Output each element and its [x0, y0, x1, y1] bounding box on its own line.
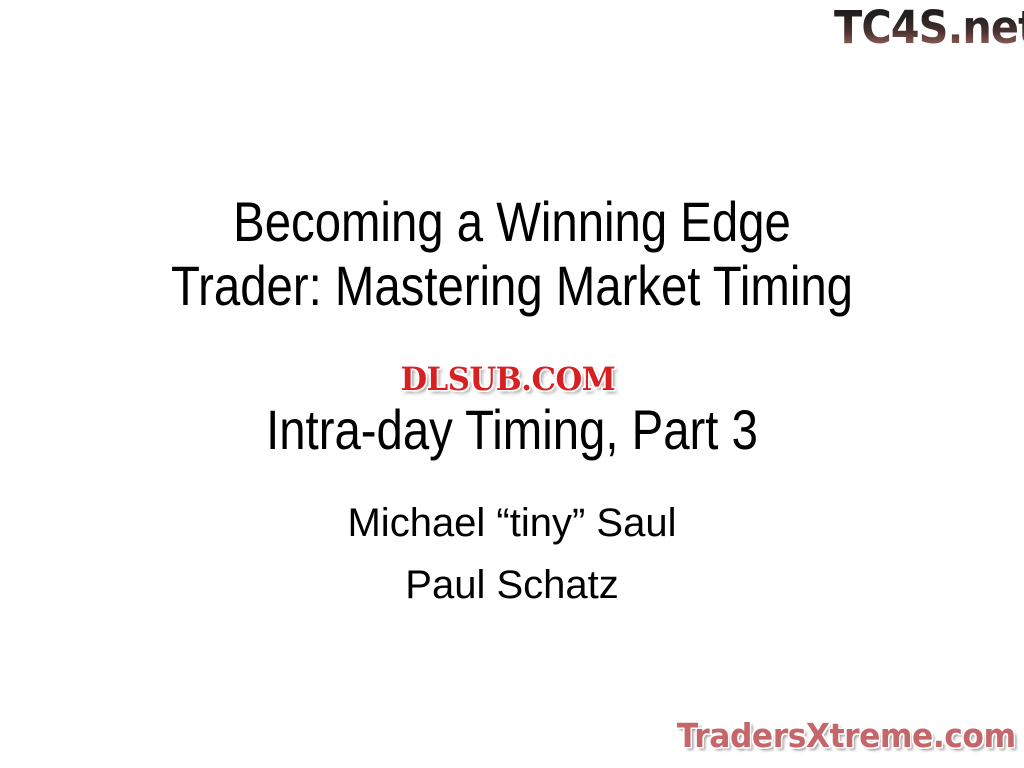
presentation-slide: TC4S.net Becoming a Winning Edge Trader:…	[0, 0, 1024, 768]
tradersxtreme-watermark-text: TradersXtreme.com	[677, 714, 1016, 758]
slide-title-line-1: Becoming a Winning Edge	[79, 192, 944, 252]
author-name-primary: Michael “tiny” Saul	[0, 500, 1024, 546]
slide-subtitle: Intra-day Timing, Part 3	[79, 400, 944, 460]
author-name-secondary: Paul Schatz	[0, 562, 1024, 608]
dlsub-watermark: DLSUB.COM	[364, 358, 652, 402]
dlsub-watermark-text: DLSUB.COM	[401, 358, 616, 400]
tradersxtreme-watermark: TradersXtreme.com	[659, 714, 1016, 760]
slide-title-line-2: Trader: Mastering Market Timing	[79, 256, 944, 316]
